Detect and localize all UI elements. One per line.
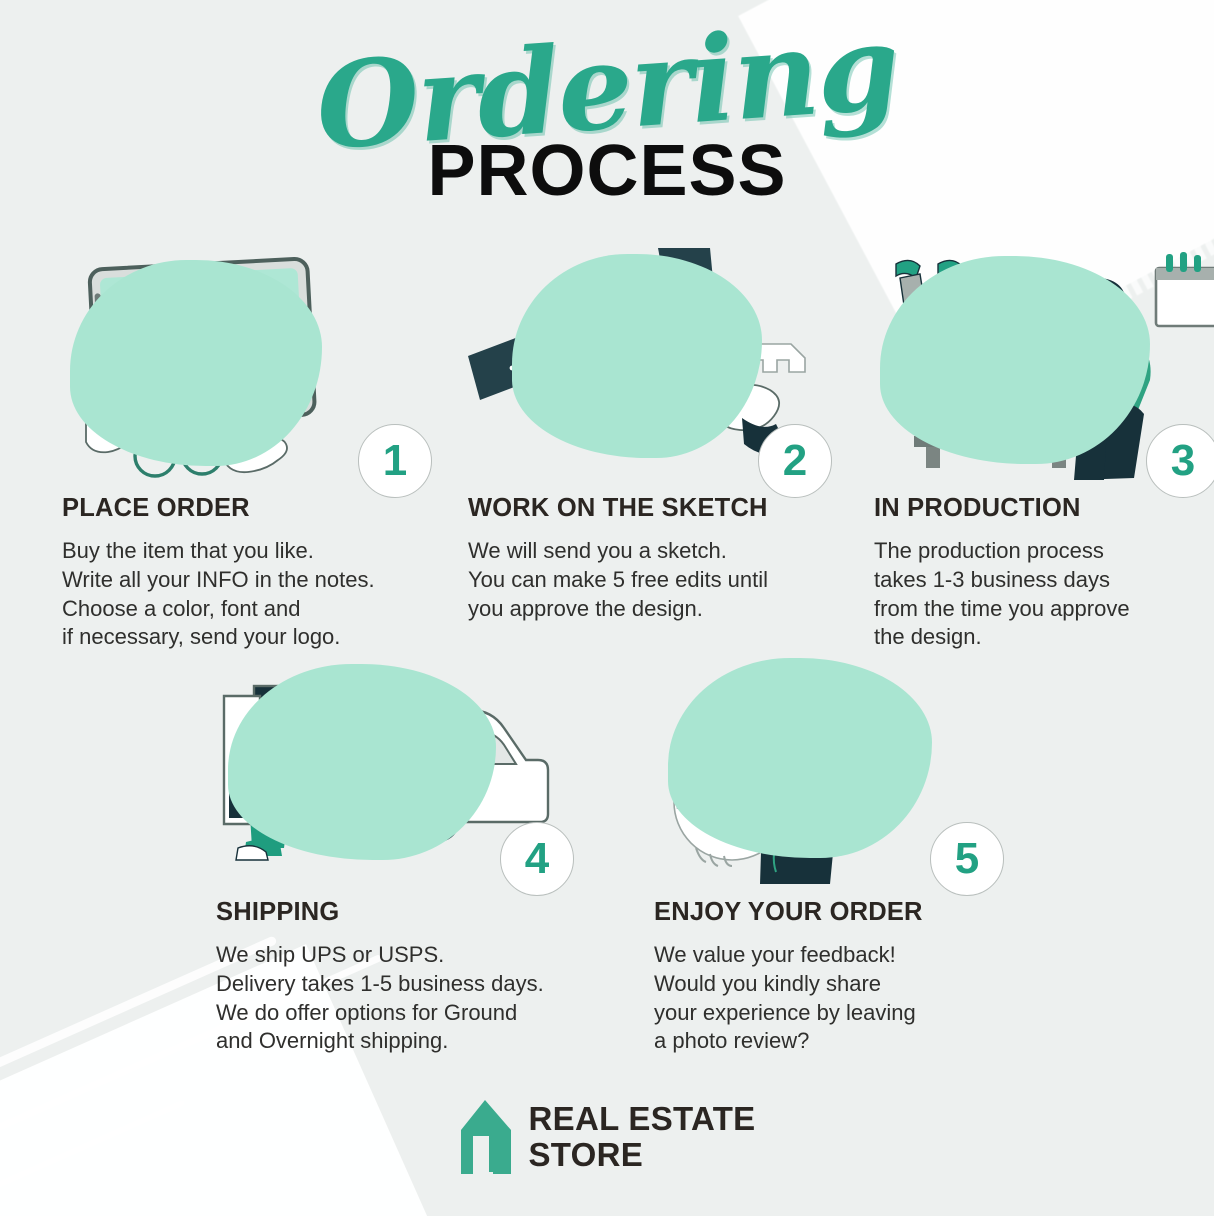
blob-shape [880, 256, 1150, 464]
step-badge-5: 5 [930, 822, 1004, 896]
step-2-illustration: Sold [468, 248, 850, 480]
step-title-5: ENJOY YOUR ORDER [654, 898, 1036, 927]
step-badge-2: 2 [758, 424, 832, 498]
step-body-2: We will send you a sketch. You can make … [468, 537, 850, 623]
step-body-1: Buy the item that you like. Write all yo… [62, 537, 444, 652]
logo-line-1: REAL ESTATE [529, 1101, 756, 1137]
step-card-2: Sold [468, 248, 850, 652]
step-card-5: Sold 5 ENJOY YOUR ORDER We value your fe… [654, 652, 1036, 1056]
step-5-illustration: Sold 5 [654, 652, 1036, 884]
infographic-page: Ordering PROCESS [0, 0, 1214, 1216]
house-arrow-icon [459, 1100, 511, 1174]
step-badge-1: 1 [358, 424, 432, 498]
blob-shape [512, 254, 762, 458]
logo-text: REAL ESTATE STORE [529, 1101, 756, 1172]
steps-row-top: BUY [62, 248, 1162, 652]
blob-shape [228, 664, 496, 860]
blob-shape [668, 658, 932, 858]
footer-logo: REAL ESTATE STORE [0, 1100, 1214, 1174]
step-1-illustration: BUY [62, 248, 444, 480]
step-title-2: WORK ON THE SKETCH [468, 494, 850, 523]
step-title-1: PLACE ORDER [62, 494, 444, 523]
steps-row-bottom: 4 SHIPPING We ship UPS or USPS. Delivery… [216, 652, 1016, 1056]
blob-shape [70, 260, 322, 466]
step-4-illustration: 4 [216, 652, 598, 884]
step-badge-4: 4 [500, 822, 574, 896]
step-card-1: BUY [62, 248, 444, 652]
logo-line-2: STORE [529, 1137, 756, 1173]
step-title-4: SHIPPING [216, 898, 598, 927]
step-body-4: We ship UPS or USPS. Delivery takes 1-5 … [216, 941, 598, 1056]
step-3-illustration: 3 [874, 248, 1214, 480]
step-badge-3: 3 [1146, 424, 1214, 498]
step-card-3: 3 IN PRODUCTION The production process t… [874, 248, 1214, 652]
page-header: Ordering PROCESS [0, 28, 1214, 212]
step-title-3: IN PRODUCTION [874, 494, 1214, 523]
step-card-4: 4 SHIPPING We ship UPS or USPS. Delivery… [216, 652, 598, 1056]
title-script-word: Ordering [313, 8, 902, 166]
step-body-3: The production process takes 1-3 busines… [874, 537, 1214, 652]
step-body-5: We value your feedback! Would you kindly… [654, 941, 1036, 1056]
